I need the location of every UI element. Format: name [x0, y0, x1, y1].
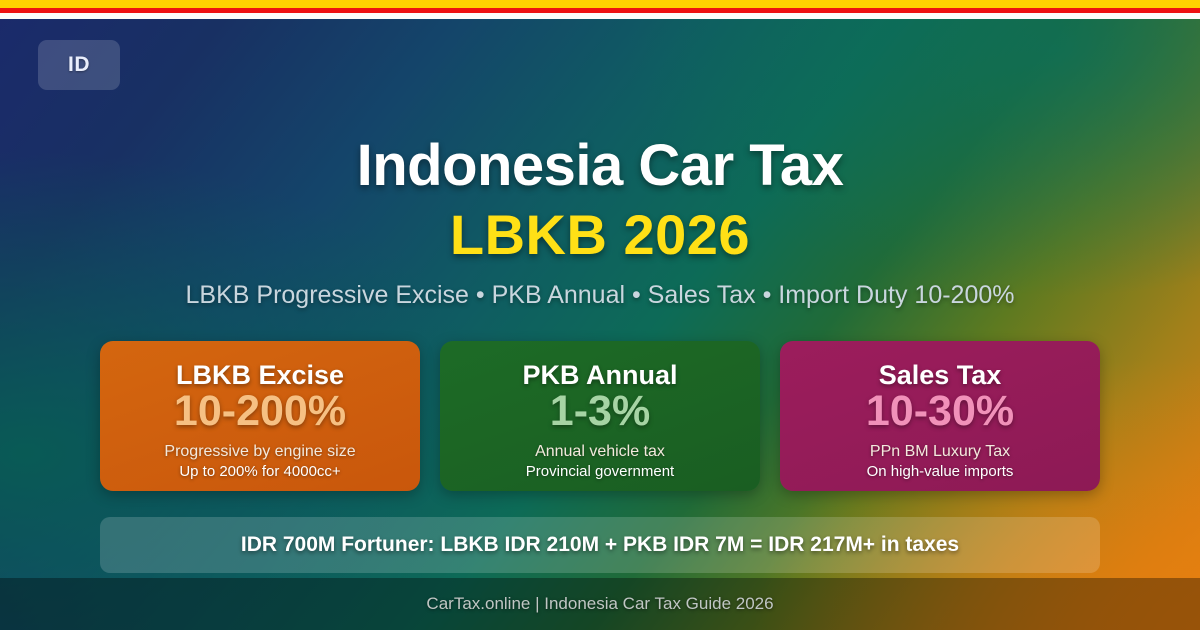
- tax-card-subnote: Provincial government: [440, 462, 760, 482]
- tax-card-list: LBKB Excise 10-200% Progressive by engin…: [100, 341, 1100, 491]
- country-code-badge: ID: [38, 40, 120, 90]
- country-code-label: ID: [68, 53, 90, 77]
- page-title: Indonesia Car Tax: [0, 132, 1200, 199]
- tax-card-body: Sales Tax 10-30% PPn BM Luxury Tax On hi…: [780, 361, 1100, 482]
- example-calculation-banner: IDR 700M Fortuner: LBKB IDR 210M + PKB I…: [100, 517, 1100, 573]
- tax-card-title: LBKB Excise: [100, 361, 420, 389]
- tax-card-description: Annual vehicle tax: [440, 442, 760, 462]
- tax-card-subnote: Up to 200% for 4000cc+: [100, 462, 420, 482]
- poster-content: Indonesia Car Tax LBKB 2026 LBKB Progres…: [0, 0, 1200, 630]
- tax-card-title: Sales Tax: [780, 361, 1100, 389]
- footer-attribution: CarTax.online | Indonesia Car Tax Guide …: [426, 594, 773, 614]
- tax-card-body: PKB Annual 1-3% Annual vehicle tax Provi…: [440, 361, 760, 482]
- page-subtitle-accent: LBKB 2026: [0, 202, 1200, 267]
- tax-card-subnote: On high-value imports: [780, 462, 1100, 482]
- tax-card-description: Progressive by engine size: [100, 442, 420, 462]
- tax-card-lbkb-excise: LBKB Excise 10-200% Progressive by engin…: [100, 341, 420, 491]
- tax-card-pkb-annual: PKB Annual 1-3% Annual vehicle tax Provi…: [440, 341, 760, 491]
- tax-card-value: 1-3%: [440, 388, 760, 434]
- tax-card-value: 10-200%: [100, 388, 420, 434]
- tax-card-sales-tax: Sales Tax 10-30% PPn BM Luxury Tax On hi…: [780, 341, 1100, 491]
- example-calculation-text: IDR 700M Fortuner: LBKB IDR 210M + PKB I…: [241, 533, 959, 557]
- indonesia-flag-stripes: [0, 0, 1200, 19]
- tax-card-description: PPn BM Luxury Tax: [780, 442, 1100, 462]
- flag-stripe-white: [0, 13, 1200, 19]
- flag-stripe-yellow: [0, 0, 1200, 8]
- page-tagline: LBKB Progressive Excise • PKB Annual • S…: [0, 281, 1200, 310]
- tax-card-value: 10-30%: [780, 388, 1100, 434]
- footer-bar: CarTax.online | Indonesia Car Tax Guide …: [0, 578, 1200, 630]
- tax-card-body: LBKB Excise 10-200% Progressive by engin…: [100, 361, 420, 482]
- tax-card-title: PKB Annual: [440, 361, 760, 389]
- poster-canvas: ID Indonesia Car Tax LBKB 2026 LBKB Prog…: [0, 0, 1200, 630]
